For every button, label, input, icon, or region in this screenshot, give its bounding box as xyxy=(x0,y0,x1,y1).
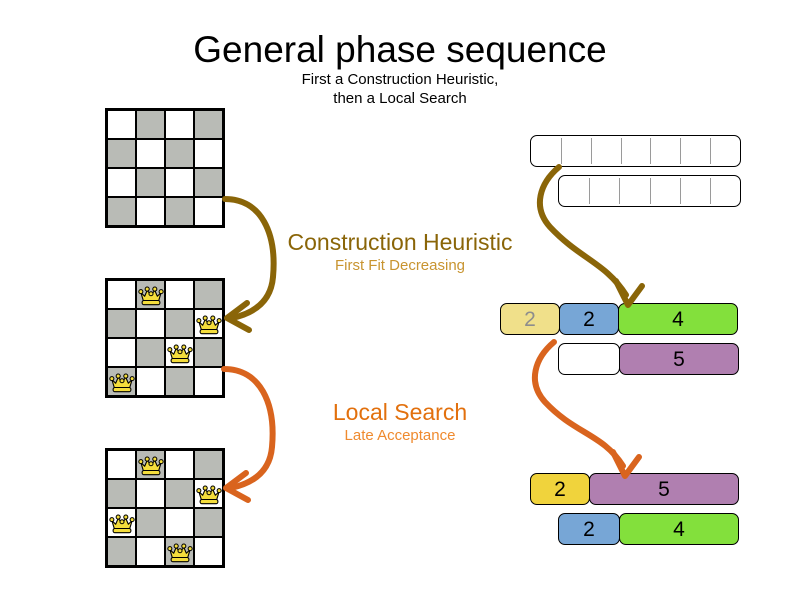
nqueens-board-after-construction xyxy=(105,278,225,398)
board-cell[interactable] xyxy=(107,110,136,139)
page-subtitle: First a Construction Heuristic, then a L… xyxy=(0,70,800,108)
arrow-construction-heuristic-nqueens-icon xyxy=(215,185,295,335)
board-cell[interactable] xyxy=(194,537,223,566)
board-cell[interactable] xyxy=(165,338,194,367)
board-cell[interactable] xyxy=(107,338,136,367)
bin-slot-divider xyxy=(710,178,711,204)
board-cell[interactable] xyxy=(165,309,194,338)
phase-algorithm-local-search: Late Acceptance xyxy=(250,426,550,445)
phase-name-construction: Construction Heuristic xyxy=(250,229,550,256)
board-cell[interactable] xyxy=(136,367,165,396)
binpacking-bar-localsearch-2: 24 xyxy=(558,513,740,545)
page-subtitle-line2: then a Local Search xyxy=(0,89,800,108)
board-cell[interactable] xyxy=(165,197,194,226)
board-cell[interactable] xyxy=(136,338,165,367)
board-cell[interactable] xyxy=(136,479,165,508)
queen-piece-icon xyxy=(109,512,135,534)
bin-item-4[interactable]: 4 xyxy=(619,513,739,545)
phase-name-local-search: Local Search xyxy=(250,399,550,426)
queen-piece-icon xyxy=(138,454,164,476)
board-cell[interactable] xyxy=(165,537,194,566)
board-cell[interactable] xyxy=(107,168,136,197)
board-cell[interactable] xyxy=(107,450,136,479)
queen-piece-icon xyxy=(167,342,193,364)
bin-slot-divider xyxy=(680,178,681,204)
arrow-local-search-binpacking-icon xyxy=(523,330,653,485)
board-cell[interactable] xyxy=(136,508,165,537)
board-cell[interactable] xyxy=(107,197,136,226)
page-subtitle-line1: First a Construction Heuristic, xyxy=(0,70,800,89)
queen-piece-icon xyxy=(109,371,135,393)
nqueens-board-empty xyxy=(105,108,225,228)
board-cell[interactable] xyxy=(194,139,223,168)
bin-item-2[interactable]: 2 xyxy=(558,513,620,545)
arrow-construction-heuristic-binpacking-icon xyxy=(528,155,658,315)
bin-slot-divider xyxy=(710,138,711,164)
board-cell[interactable] xyxy=(107,479,136,508)
board-cell[interactable] xyxy=(165,168,194,197)
board-cell[interactable] xyxy=(136,537,165,566)
board-cell[interactable] xyxy=(165,367,194,396)
board-cell[interactable] xyxy=(136,139,165,168)
arrow-local-search-nqueens-icon xyxy=(212,355,292,505)
queen-piece-icon xyxy=(138,284,164,306)
phase-label-construction-heuristic: Construction Heuristic First Fit Decreas… xyxy=(250,229,550,275)
board-cell[interactable] xyxy=(194,508,223,537)
board-cell[interactable] xyxy=(165,479,194,508)
board-cell[interactable] xyxy=(165,139,194,168)
nqueens-board-after-local-search xyxy=(105,448,225,568)
bin-slot-divider xyxy=(680,138,681,164)
phase-algorithm-construction: First Fit Decreasing xyxy=(250,256,550,275)
phase-label-local-search: Local Search Late Acceptance xyxy=(250,399,550,445)
board-cell[interactable] xyxy=(136,309,165,338)
page-title: General phase sequence xyxy=(0,28,800,72)
board-cell[interactable] xyxy=(107,139,136,168)
board-cell[interactable] xyxy=(136,110,165,139)
board-cell[interactable] xyxy=(136,280,165,309)
queen-piece-icon xyxy=(167,541,193,563)
board-cell[interactable] xyxy=(136,168,165,197)
board-cell[interactable] xyxy=(136,197,165,226)
board-cell[interactable] xyxy=(165,508,194,537)
board-cell[interactable] xyxy=(107,309,136,338)
board-cell[interactable] xyxy=(107,537,136,566)
board-cell[interactable] xyxy=(194,110,223,139)
board-cell[interactable] xyxy=(165,110,194,139)
board-cell[interactable] xyxy=(107,280,136,309)
board-cell[interactable] xyxy=(136,450,165,479)
board-cell[interactable] xyxy=(107,367,136,396)
board-cell[interactable] xyxy=(165,450,194,479)
board-cell[interactable] xyxy=(107,508,136,537)
board-cell[interactable] xyxy=(165,280,194,309)
